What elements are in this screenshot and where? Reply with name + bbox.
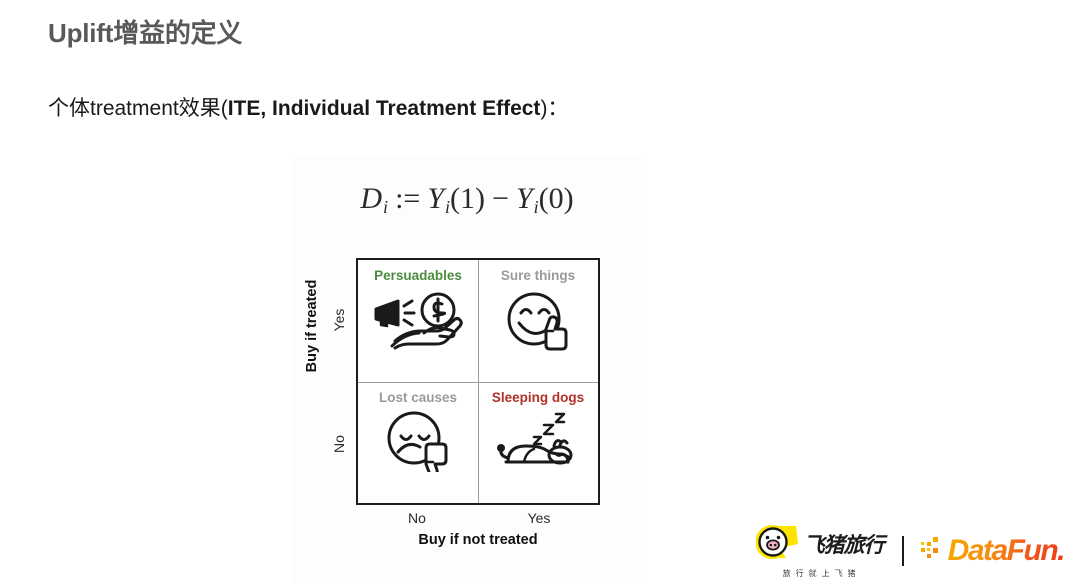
y-axis-title: Buy if treated (304, 261, 320, 391)
formula-lhs-var: D (360, 182, 382, 215)
quadrant-label-lost-causes: Lost causes (379, 391, 457, 405)
fliggy-logo: 飞猪旅行 旅行就上飞猪 (756, 524, 884, 579)
logo-divider (902, 536, 904, 566)
formula-term2-var: Y (516, 182, 533, 215)
figure-block: Di:=Yi(1)−Yi(0) Buy if treated Yes No Pe… (292, 156, 642, 584)
quadrant-label-sure-things: Sure things (501, 269, 575, 283)
ite-formula: Di:=Yi(1)−Yi(0) (292, 182, 642, 218)
subtitle-suffix: )： (540, 97, 568, 120)
quadrant-cell-lost-causes: Lost causes (358, 382, 478, 504)
quadrant-label-sleeping-dogs: Sleeping dogs (492, 391, 584, 405)
x-axis-title: Buy if not treated (356, 532, 600, 548)
formula-lhs-subscript: i (383, 197, 388, 217)
fliggy-tagline: 旅行就上飞猪 (783, 568, 861, 579)
datafun-wordmark: DataFun. (948, 534, 1064, 568)
y-tick-no: No (331, 427, 347, 461)
sleeping-dog-icon (494, 410, 582, 475)
fliggy-pig-badge-icon (756, 524, 800, 565)
x-axis-ticks: No Yes (356, 510, 600, 526)
fliggy-wordmark: 飞猪旅行 (804, 529, 884, 559)
formula-minus-operator: − (492, 182, 509, 215)
fliggy-logo-row: 飞猪旅行 (756, 524, 884, 565)
quadrant-cell-sleeping-dogs: Sleeping dogs (478, 382, 598, 504)
subtitle-line: 个体treatment效果(ITE, Individual Treatment … (48, 92, 568, 122)
quadrant-cell-persuadables: Persuadables (358, 260, 478, 382)
quadrant-label-persuadables: Persuadables (374, 269, 462, 283)
smiley-thumbs-up-icon (502, 289, 574, 358)
x-tick-yes: Yes (478, 510, 600, 526)
formula-term2-arg: (0) (539, 182, 574, 215)
formula-term1-var: Y (427, 182, 444, 215)
formula-term1-arg: (1) (450, 182, 485, 215)
subtitle-prefix: 个体treatment效果( (48, 97, 228, 120)
sad-face-thumbs-down-icon (382, 410, 454, 477)
quadrant-cell-sure-things: Sure things (478, 260, 598, 382)
subtitle-emphasis: ITE, Individual Treatment Effect (228, 97, 541, 120)
uplift-quadrant-chart: Buy if treated Yes No Persuadables (292, 254, 642, 554)
page-title: Uplift增益的定义 (48, 13, 242, 50)
megaphone-money-hand-icon (368, 289, 468, 358)
footer-logos: 飞猪旅行 旅行就上飞猪 DataFun. (756, 522, 1064, 580)
y-tick-yes: Yes (331, 303, 347, 337)
quadrant-grid: Persuadables (356, 258, 600, 505)
datafun-dots-icon (920, 536, 946, 567)
x-tick-no: No (356, 510, 478, 526)
formula-assign-operator: := (395, 182, 420, 215)
datafun-logo: DataFun. (920, 534, 1064, 568)
